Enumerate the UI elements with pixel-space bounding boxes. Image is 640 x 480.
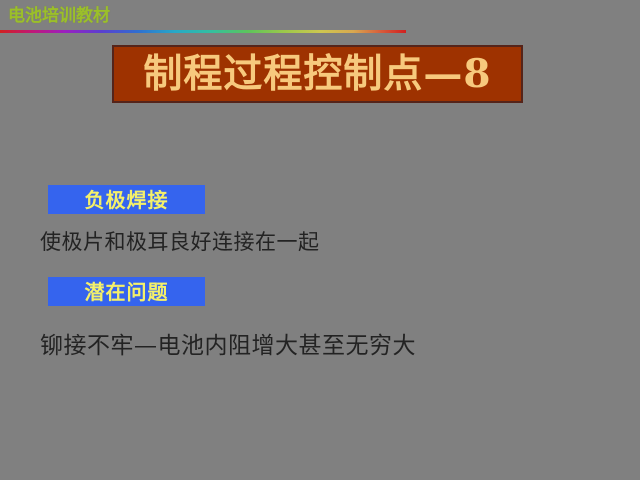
section-body-text-potential-issues: 铆接不牢—电池内阻增大甚至无穷大 [40, 333, 416, 359]
section-body-text-negative-welding: 使极片和极耳良好连接在一起 [40, 229, 320, 255]
slide-title-banner: 制程过程控制点—8 [112, 45, 523, 103]
presentation-slide: 电池培训教材 制程过程控制点—8 负极焊接 使极片和极耳良好连接在一起 潜在问题… [0, 0, 640, 480]
section-heading-label: 负极焊接 [85, 188, 169, 212]
slide-title-text: 制程过程控制点—8 [143, 52, 491, 96]
course-title-label: 电池培训教材 [8, 6, 110, 26]
rainbow-divider [0, 30, 406, 33]
section-heading-label: 潜在问题 [85, 280, 169, 304]
section-heading-chip-potential-issues: 潜在问题 [48, 277, 205, 306]
section-heading-chip-negative-welding: 负极焊接 [48, 185, 205, 214]
